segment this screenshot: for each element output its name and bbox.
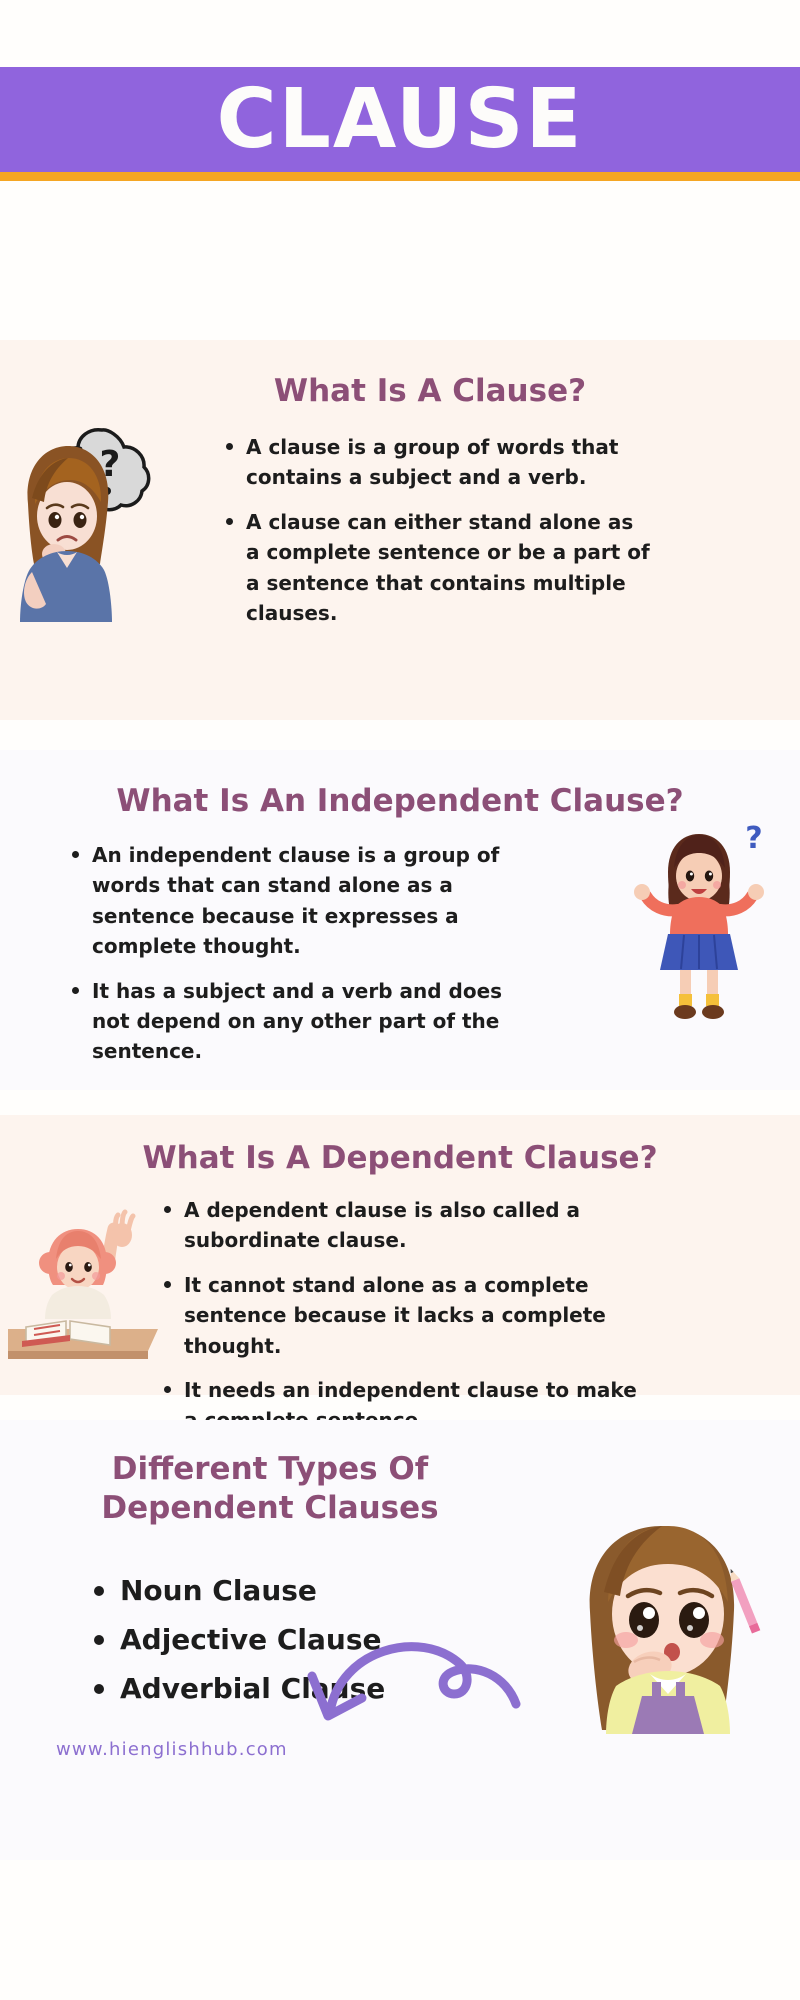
section-title: What Is A Clause? — [190, 372, 670, 411]
header-accent-stripe — [0, 172, 800, 181]
section-title-line-2: Dependent Clauses — [60, 1489, 480, 1528]
header: CLAUSE — [0, 67, 800, 181]
thinking-girl-with-question-cloud-icon: ? — [10, 394, 180, 644]
list-item: A dependent clause is also called a subo… — [160, 1195, 640, 1256]
shrugging-girl-with-question-mark-icon: ? — [624, 814, 774, 1044]
list-item: It has a subject and a verb and does not… — [68, 976, 528, 1067]
page-title: CLAUSE — [216, 79, 583, 161]
student-raising-hand-at-desk-icon — [4, 1201, 174, 1381]
section-what-is-an-independent-clause: What Is An Independent Clause? An indepe… — [0, 750, 800, 1090]
list-item: An independent clause is a group of word… — [68, 840, 528, 962]
header-bar: CLAUSE — [0, 67, 800, 172]
section-body: A dependent clause is also called a subo… — [160, 1195, 640, 1436]
section-body: An independent clause is a group of word… — [68, 840, 528, 1067]
list-item: Noun Clause — [88, 1570, 518, 1612]
svg-text:?: ? — [745, 821, 762, 856]
section-what-is-a-clause: ? — [0, 340, 800, 720]
section-title: Different Types Of Dependent Clauses — [60, 1450, 480, 1528]
curved-arrow-icon — [300, 1620, 530, 1740]
list-item: It cannot stand alone as a complete sent… — [160, 1270, 640, 1361]
section-title: What Is A Dependent Clause? — [40, 1139, 760, 1178]
infographic-page: CLAUSE ? — [0, 0, 800, 2000]
website-url[interactable]: www.hienglishhub.com — [56, 1739, 288, 1760]
bullet-list: A clause is a group of words that contai… — [222, 432, 652, 628]
thinking-girl-with-pencil-icon — [564, 1516, 784, 1746]
bullet-list: A dependent clause is also called a subo… — [160, 1195, 640, 1436]
section-title-line-1: Different Types Of — [60, 1450, 480, 1489]
list-item: A clause can either stand alone as a com… — [222, 507, 652, 629]
section-what-is-a-dependent-clause: What Is A Dependent Clause? — [0, 1115, 800, 1395]
list-item: A clause is a group of words that contai… — [222, 432, 652, 493]
section-body: A clause is a group of words that contai… — [222, 432, 652, 628]
bullet-list: An independent clause is a group of word… — [68, 840, 528, 1067]
